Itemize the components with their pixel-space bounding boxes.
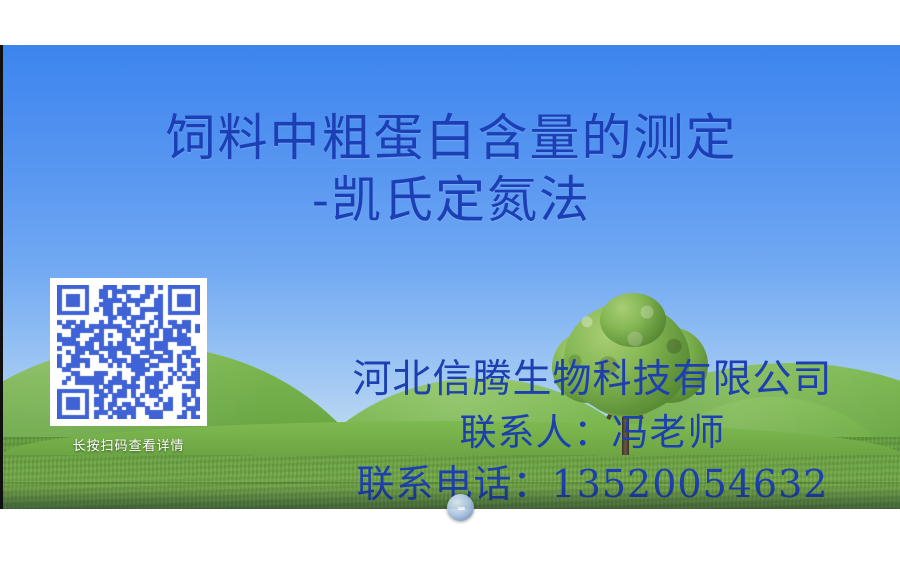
video-player-stage[interactable]: 饲料中粗蛋白含量的测定 -凯氏定氮法 河北信腾生物科技有限公司 联系人：冯老师 … [0,45,900,509]
qr-code-caption: 长按扫码查看详情 [50,435,207,454]
qr-code-image[interactable] [57,285,200,419]
page-root: 饲料中粗蛋白含量的测定 -凯氏定氮法 河北信腾生物科技有限公司 联系人：冯老师 … [0,0,900,561]
qr-code-panel[interactable] [50,278,207,426]
qr-code-block[interactable]: 长按扫码查看详情 [50,278,207,454]
contact-person: 联系人：冯老师 [303,411,882,455]
company-name: 河北信腾生物科技有限公司 [303,358,882,403]
mouse-cursor-dot [447,494,474,521]
